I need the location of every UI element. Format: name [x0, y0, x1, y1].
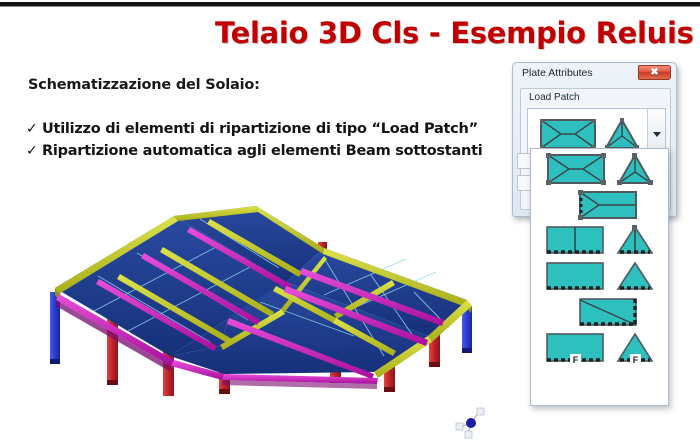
- close-icon: ✖: [650, 68, 658, 78]
- list-item[interactable]: F F: [531, 331, 668, 367]
- top-divider-rule-shadow: [0, 6, 700, 7]
- patch-tri-envelope-icon: [604, 117, 640, 151]
- load-patch-options-list[interactable]: F F: [530, 148, 669, 406]
- dialog-field-fragment: [517, 175, 531, 191]
- checkmark-icon: ✓: [26, 140, 42, 162]
- svg-text:F: F: [573, 355, 579, 365]
- bullet-list: ✓ Utilizzo di elementi di ripartizione d…: [26, 118, 506, 162]
- close-button[interactable]: ✖: [638, 65, 671, 80]
- patch-rect-bottom-dashed-icon: [544, 261, 606, 293]
- list-item[interactable]: [531, 259, 668, 295]
- patch-rect-diagonal-dashed-icon: [577, 297, 639, 329]
- list-item[interactable]: [531, 187, 668, 223]
- patch-rect-envelope-icon: [545, 152, 607, 186]
- svg-text:F: F: [633, 355, 639, 365]
- patch-rect-envelope-icon: [539, 117, 597, 151]
- list-item[interactable]: [531, 295, 668, 331]
- dialog-titlebar[interactable]: Plate Attributes ✖: [513, 63, 676, 85]
- list-item-label: Utilizzo di elementi di ripartizione di …: [42, 118, 478, 140]
- groupbox-label: Load Patch: [527, 92, 582, 103]
- list-item-label: Ripartizione automatica agli elementi Be…: [42, 140, 482, 162]
- axis-origin-marker: [452, 402, 490, 440]
- list-item[interactable]: [531, 151, 668, 187]
- list-item: ✓ Ripartizione automatica agli elementi …: [26, 140, 506, 162]
- patch-tri-force-icon: F: [615, 332, 655, 366]
- patch-rect-force-icon: F: [544, 332, 606, 366]
- patch-rect-split-dashed-icon: [544, 225, 606, 257]
- checkmark-icon: ✓: [26, 118, 42, 140]
- dialog-field-fragment: [517, 153, 531, 169]
- list-item[interactable]: [531, 223, 668, 259]
- patch-tri-bottom-dashed-icon: [615, 261, 655, 293]
- page-title: Telaio 3D Cls - Esempio Reluis (3): [215, 16, 693, 50]
- combobox-selected-value: [528, 117, 647, 151]
- patch-tri-envelope-icon: [616, 152, 654, 186]
- patch-rect-half-envelope-icon: [577, 189, 639, 221]
- patch-tri-center-dashed-icon: [615, 225, 655, 257]
- section-subtitle: Schematizzazione del Solaio:: [28, 77, 260, 93]
- dialog-title: Plate Attributes: [522, 67, 593, 79]
- 3d-frame-model: [24, 196, 492, 396]
- list-item: ✓ Utilizzo di elementi di ripartizione d…: [26, 118, 506, 140]
- chevron-down-icon: [653, 132, 661, 137]
